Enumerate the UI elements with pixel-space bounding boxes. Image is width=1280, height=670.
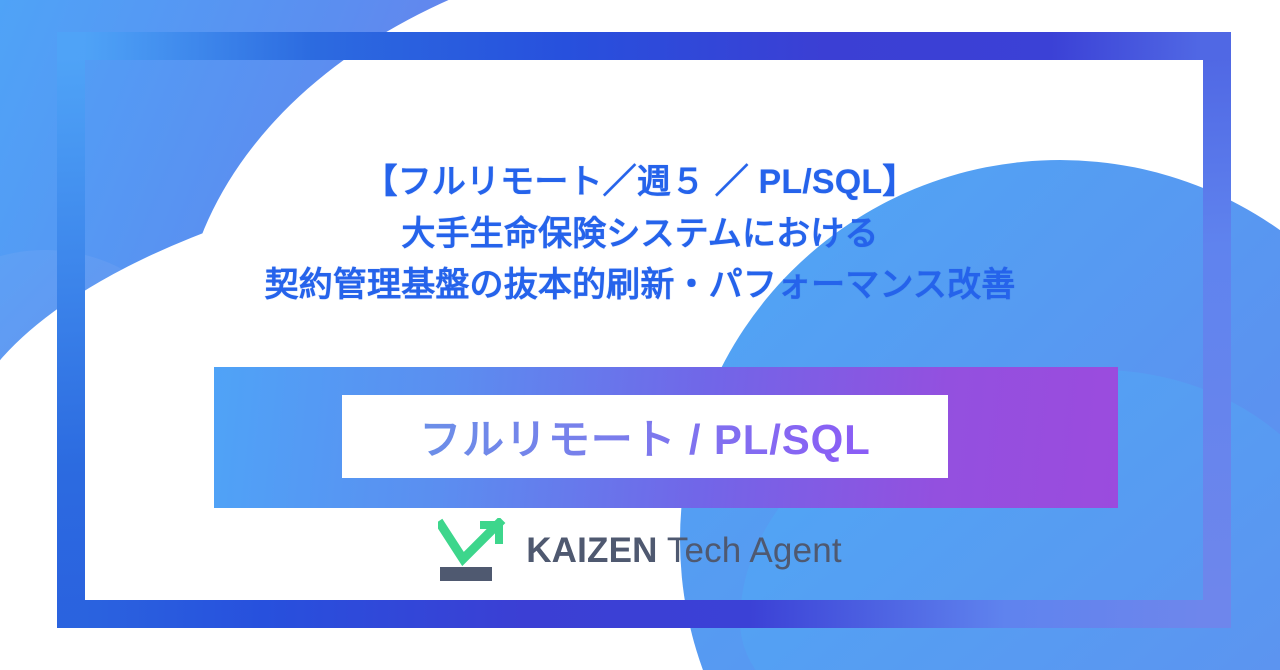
headline-line-2: 大手生命保険システムにおける (265, 212, 1016, 258)
brand-name-primary: KAIZEN (526, 531, 657, 570)
headline-line-1: 【フルリモート／週５ ／ PL/SQL】 (265, 160, 1016, 206)
badge-label: フルリモート / PL/SQL (419, 406, 870, 467)
headline-line-3: 契約管理基盤の抜本的刷新・パフォーマンス改善 (265, 263, 1016, 309)
job-posting-banner: 【フルリモート／週５ ／ PL/SQL】 大手生命保険システムにおける 契約管理… (0, 0, 1280, 670)
badge-panel: フルリモート / PL/SQL (342, 395, 948, 478)
brand-logo: KAIZEN Tech Agent (0, 518, 1280, 584)
brand-name-secondary: Tech Agent (658, 531, 842, 570)
headline: 【フルリモート／週５ ／ PL/SQL】 大手生命保険システムにおける 契約管理… (265, 160, 1016, 309)
brand-wordmark: KAIZEN Tech Agent (526, 531, 842, 571)
growth-arrow-icon (438, 518, 512, 584)
